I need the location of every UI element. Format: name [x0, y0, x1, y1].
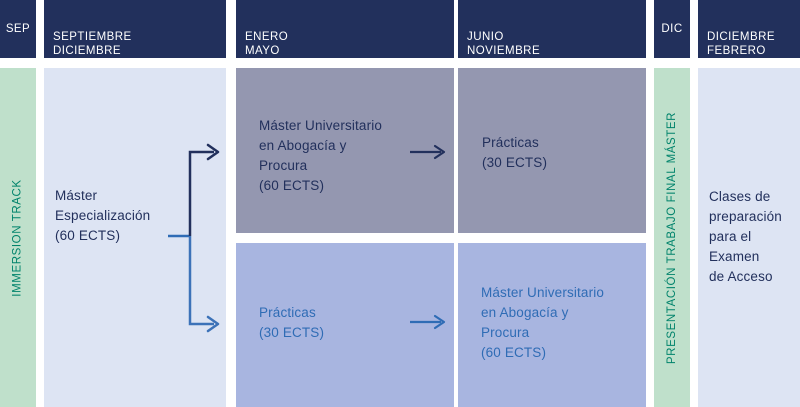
header-period-diciembre-febrero: DICIEMBRE FEBRERO — [698, 0, 800, 58]
connector-branch-down — [190, 236, 214, 324]
header-period-septiembre-diciembre: SEPTIEMBRE DICIEMBRE — [44, 0, 226, 58]
header-period-junio-noviembre-label: JUNIO NOVIEMBRE — [467, 31, 540, 58]
header-period-sep: SEP — [0, 0, 36, 58]
top-path-arrow-1-icon — [410, 142, 450, 162]
bottom-path-stage-2-label: Máster Universitario en Abogacía y Procu… — [481, 283, 651, 363]
exam-prep-label: Clases de preparación para el Examen de … — [709, 187, 799, 287]
header-period-dic-label: DIC — [661, 22, 682, 37]
header-period-enero-mayo-label: ENERO MAYO — [245, 31, 288, 58]
header-period-septiembre-diciembre-label: SEPTIEMBRE DICIEMBRE — [53, 31, 132, 58]
bottom-path-stage-1-label: Prácticas (30 ECTS) — [259, 303, 409, 343]
timeline-diagram: SEP SEPTIEMBRE DICIEMBRE ENERO MAYO JUNI… — [0, 0, 800, 407]
branch-connector — [168, 140, 230, 336]
tfm-presentation-label: PRESENTACIÓN TRABAJO FINAL MÁSTER — [666, 111, 678, 363]
bottom-path-arrow-1-icon — [410, 312, 450, 332]
immersion-track-column: IMMERSION TRACK — [0, 68, 36, 407]
header-period-sep-label: SEP — [6, 22, 30, 37]
immersion-track-label: IMMERSION TRACK — [12, 179, 24, 296]
header-period-dic: DIC — [654, 0, 690, 58]
top-path-stage-1-label: Máster Universitario en Abogacía y Procu… — [259, 116, 429, 196]
connector-branch-up — [190, 152, 214, 236]
header-period-enero-mayo: ENERO MAYO — [236, 0, 454, 58]
tfm-presentation-column: PRESENTACIÓN TRABAJO FINAL MÁSTER — [654, 68, 690, 407]
top-path-stage-2-label: Prácticas (30 ECTS) — [482, 133, 632, 173]
header-period-junio-noviembre: JUNIO NOVIEMBRE — [458, 0, 646, 58]
header-period-diciembre-febrero-label: DICIEMBRE FEBRERO — [707, 31, 775, 58]
